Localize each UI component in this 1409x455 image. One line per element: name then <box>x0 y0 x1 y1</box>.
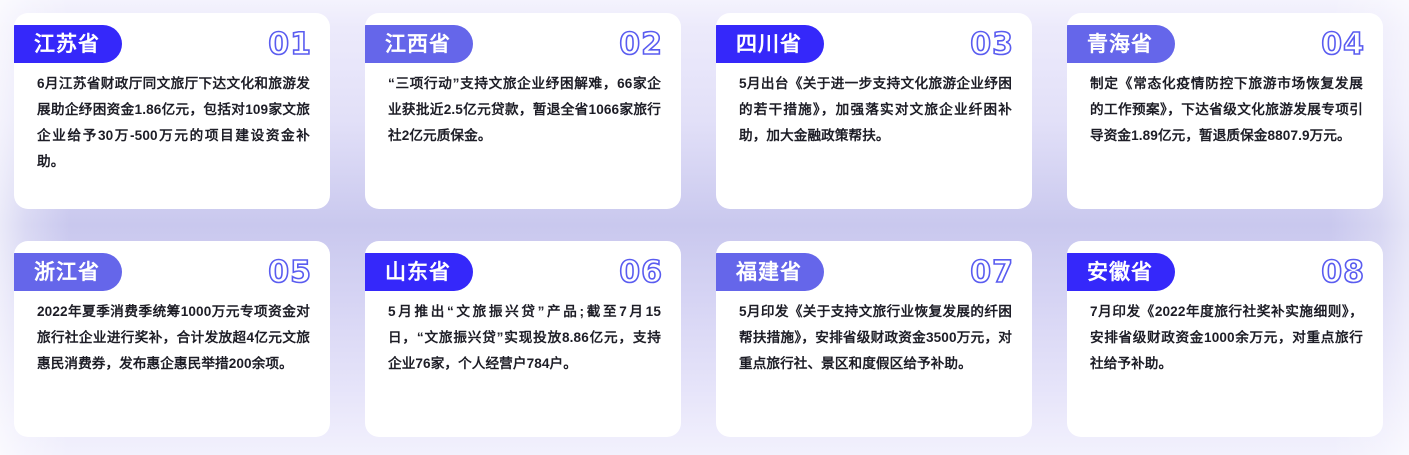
province-badge: 青海省 <box>1067 25 1175 63</box>
province-card[interactable]: 浙江省 05 2022年夏季消费季统筹1000万元专项资金对旅行社企业进行奖补，… <box>14 241 330 437</box>
card-index-number: 01 <box>268 27 312 63</box>
card-header: 浙江省 05 <box>14 241 330 291</box>
card-index-number: 08 <box>1321 255 1365 291</box>
province-card[interactable]: 福建省 07 5月印发《关于支持文旅行业恢复发展的纤困帮扶措施》，安排省级财政资… <box>716 241 1032 437</box>
province-badge: 四川省 <box>716 25 824 63</box>
card-description: 6月江苏省财政厅同文旅厅下达文化和旅游发展助企纾困资金1.86亿元，包括对109… <box>14 63 330 191</box>
province-name: 江西省 <box>385 34 451 55</box>
province-name: 江苏省 <box>34 34 100 55</box>
province-name: 安徽省 <box>1087 262 1153 283</box>
province-card[interactable]: 四川省 03 5月出台《关于进一步支持文化旅游企业纾困的若干措施》，加强落实对文… <box>716 13 1032 209</box>
card-description: 5月推出“文旅振兴贷”产品;截至7月15日，“文旅振兴贷”实现投放8.86亿元，… <box>365 291 681 393</box>
province-card[interactable]: 青海省 04 制定《常态化疫情防控下旅游市场恢复发展的工作预案》，下达省级文化旅… <box>1067 13 1383 209</box>
card-description: 5月出台《关于进一步支持文化旅游企业纾困的若干措施》，加强落实对文旅企业纤困补助… <box>716 63 1032 165</box>
province-name: 青海省 <box>1087 34 1153 55</box>
province-badge: 山东省 <box>365 253 473 291</box>
province-card[interactable]: 安徽省 08 7月印发《2022年度旅行社奖补实施细则》，安排省级财政资金100… <box>1067 241 1383 437</box>
card-header: 安徽省 08 <box>1067 241 1383 291</box>
card-index-number: 03 <box>970 27 1014 63</box>
card-header: 四川省 03 <box>716 13 1032 63</box>
province-badge: 安徽省 <box>1067 253 1175 291</box>
province-card[interactable]: 山东省 06 5月推出“文旅振兴贷”产品;截至7月15日，“文旅振兴贷”实现投放… <box>365 241 681 437</box>
province-name: 浙江省 <box>34 262 100 283</box>
card-header: 山东省 06 <box>365 241 681 291</box>
card-description: 制定《常态化疫情防控下旅游市场恢复发展的工作预案》，下达省级文化旅游发展专项引导… <box>1067 63 1383 165</box>
card-header: 江苏省 01 <box>14 13 330 63</box>
province-badge: 福建省 <box>716 253 824 291</box>
card-description: 7月印发《2022年度旅行社奖补实施细则》，安排省级财政资金1000余万元，对重… <box>1067 291 1383 393</box>
province-name: 福建省 <box>736 262 802 283</box>
card-description: “三项行动”支持文旅企业纾困解难，66家企业获批近2.5亿元贷款，暂退全省106… <box>365 63 681 165</box>
card-index-number: 04 <box>1321 27 1365 63</box>
province-card-grid: 江苏省 01 6月江苏省财政厅同文旅厅下达文化和旅游发展助企纾困资金1.86亿元… <box>0 0 1409 437</box>
infographic-page: 江苏省 01 6月江苏省财政厅同文旅厅下达文化和旅游发展助企纾困资金1.86亿元… <box>0 0 1409 455</box>
card-description: 5月印发《关于支持文旅行业恢复发展的纤困帮扶措施》，安排省级财政资金3500万元… <box>716 291 1032 393</box>
card-index-number: 07 <box>970 255 1014 291</box>
card-index-number: 06 <box>619 255 663 291</box>
card-description: 2022年夏季消费季统筹1000万元专项资金对旅行社企业进行奖补，合计发放超4亿… <box>14 291 330 393</box>
province-name: 四川省 <box>736 34 802 55</box>
province-badge: 浙江省 <box>14 253 122 291</box>
province-badge: 江苏省 <box>14 25 122 63</box>
card-header: 福建省 07 <box>716 241 1032 291</box>
province-name: 山东省 <box>385 262 451 283</box>
province-badge: 江西省 <box>365 25 473 63</box>
card-header: 江西省 02 <box>365 13 681 63</box>
card-index-number: 02 <box>619 27 663 63</box>
province-card[interactable]: 江苏省 01 6月江苏省财政厅同文旅厅下达文化和旅游发展助企纾困资金1.86亿元… <box>14 13 330 209</box>
province-card[interactable]: 江西省 02 “三项行动”支持文旅企业纾困解难，66家企业获批近2.5亿元贷款，… <box>365 13 681 209</box>
card-index-number: 05 <box>268 255 312 291</box>
card-header: 青海省 04 <box>1067 13 1383 63</box>
